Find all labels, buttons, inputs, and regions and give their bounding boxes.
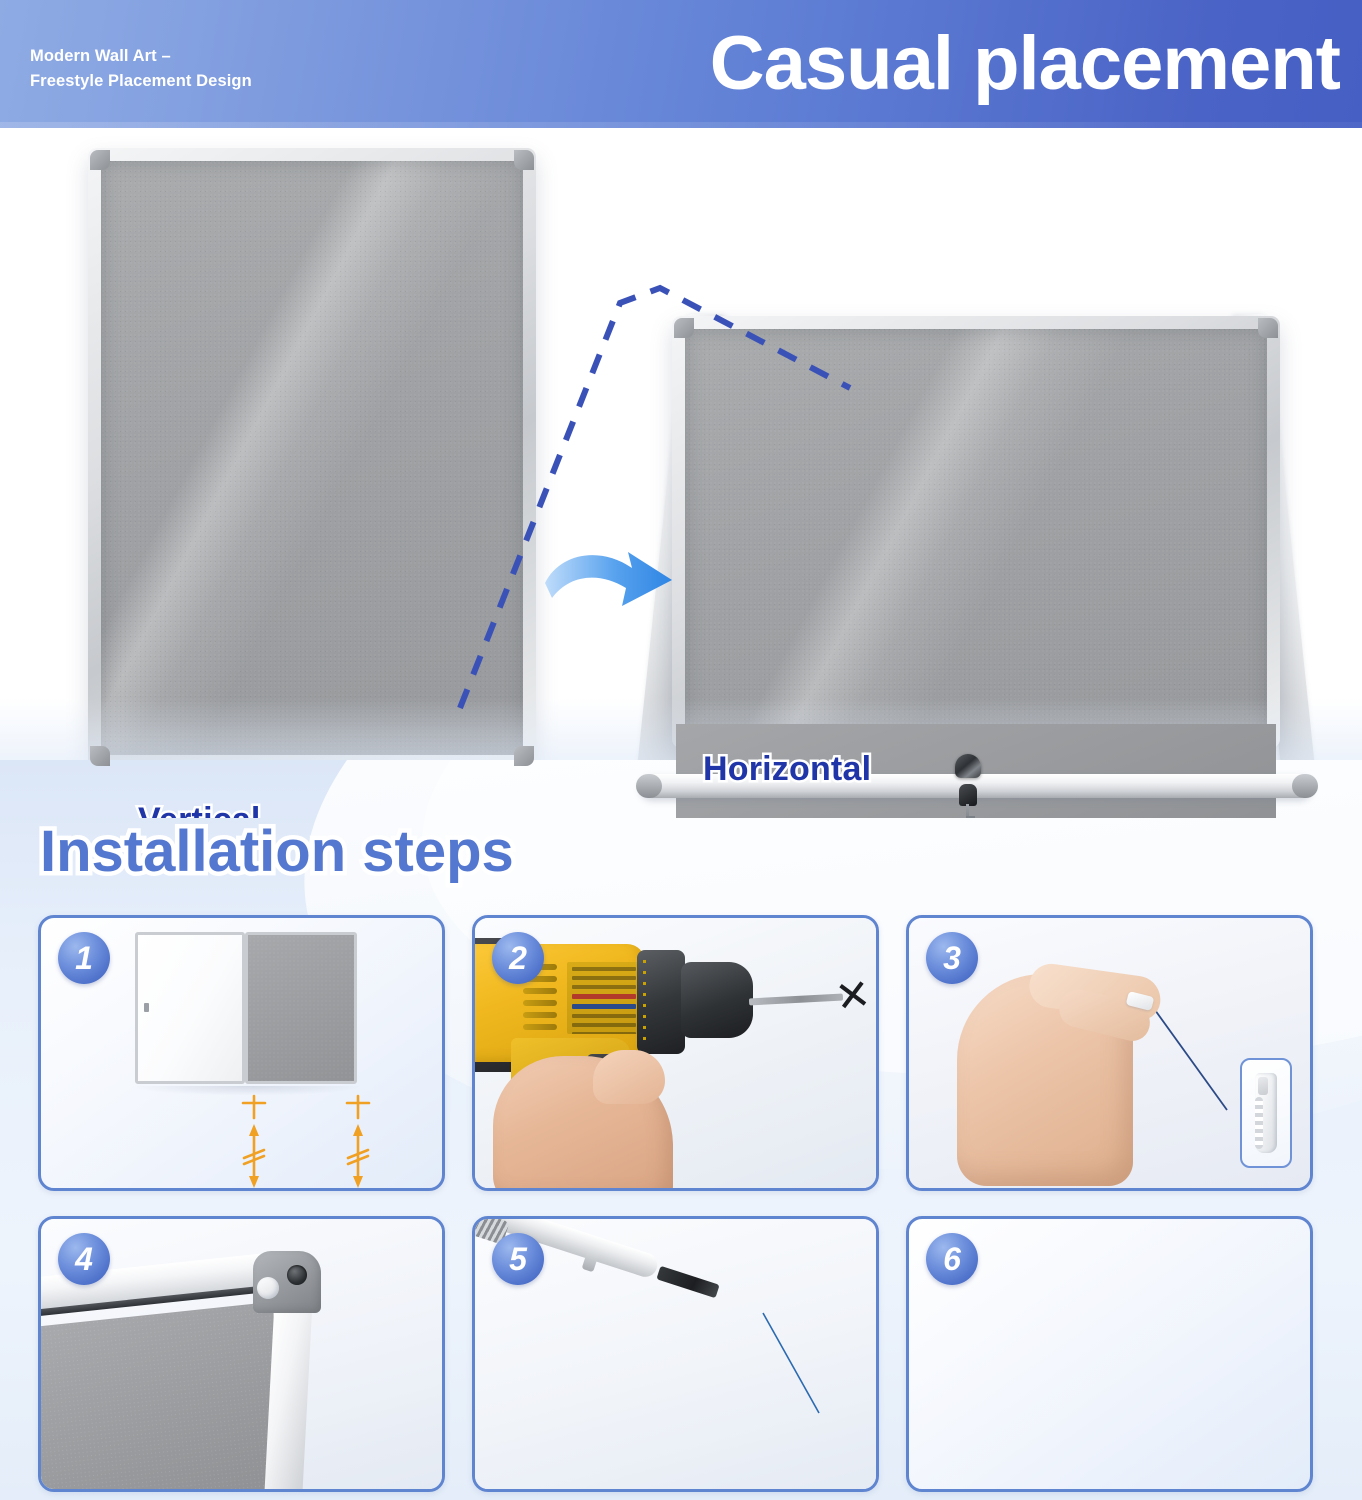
wall-anchor-callout-inset [1240,1058,1292,1168]
mounting-hole-icon [287,1265,307,1285]
drill-chuck [681,962,753,1038]
step-number-badge: 4 [58,1233,110,1285]
key-icon [959,784,977,806]
board-open-door [135,932,245,1084]
step-number-badge: 3 [926,932,978,984]
installation-steps-grid: 1 [38,915,1330,1492]
corner-cap-icon [514,746,534,766]
corner-pivot-pin [257,1277,279,1299]
rotation-arrow-outline [540,533,645,596]
step-number-badge: 2 [492,932,544,984]
mounting-measure-arrow-icon [341,1094,375,1190]
installation-section: Installation steps 1 [0,760,1362,1500]
step-number-badge: 1 [58,932,110,984]
board-panel [38,1302,292,1492]
installation-title: Installation steps [40,818,514,885]
page-header: Modern Wall Art – Freestyle Placement De… [0,0,1362,128]
lock-icon [955,754,981,778]
mounting-measure-arrow-icon [237,1094,271,1190]
corner-cap-icon [90,746,110,766]
corner-cap-icon [90,150,110,170]
header-subtitle-line1: Modern Wall Art – [30,44,360,69]
step-card-1[interactable]: 1 [38,915,445,1191]
step-card-3[interactable]: 3 [906,915,1313,1191]
header-subtitle-line2: Freestyle Placement Design [30,69,360,94]
key-bit [966,816,975,818]
rotation-curved-arrow-icon [545,552,672,606]
placement-illustration: Vertical Horizontal [0,128,1362,818]
vertical-notice-board [88,148,536,768]
corner-cap-icon [1258,318,1278,338]
horizontal-board-face [685,329,1267,735]
corner-cap-icon [514,150,534,170]
horizontal-notice-board [672,316,1280,748]
step-card-4[interactable]: 4 [38,1216,445,1492]
rail-cap-icon [636,774,662,798]
drill-spec-label [567,962,641,1034]
rail-cap-icon [1292,774,1318,798]
vertical-label: Vertical [138,801,261,818]
step-card-2[interactable]: ✕ 2 [472,915,879,1191]
page-title: Casual placement [710,26,1340,102]
drill-clutch-collar [637,950,685,1054]
step-number-badge: 6 [926,1233,978,1285]
wall-anchor-icon [1255,1073,1277,1153]
header-subtitle: Modern Wall Art – Freestyle Placement De… [30,44,360,94]
drill-hole-mark-icon: ✕ [833,976,874,1017]
step-card-5[interactable]: 5 [472,1216,879,1492]
corner-cap-icon [674,318,694,338]
vertical-board-face [101,161,523,755]
step-card-6[interactable]: 6 [906,1216,1313,1492]
board-body [245,932,357,1084]
horizontal-label: Horizontal [703,750,871,789]
infographic-page: Modern Wall Art – Freestyle Placement De… [0,0,1362,1500]
step-number-badge: 5 [492,1233,544,1285]
thumb [593,1050,665,1104]
